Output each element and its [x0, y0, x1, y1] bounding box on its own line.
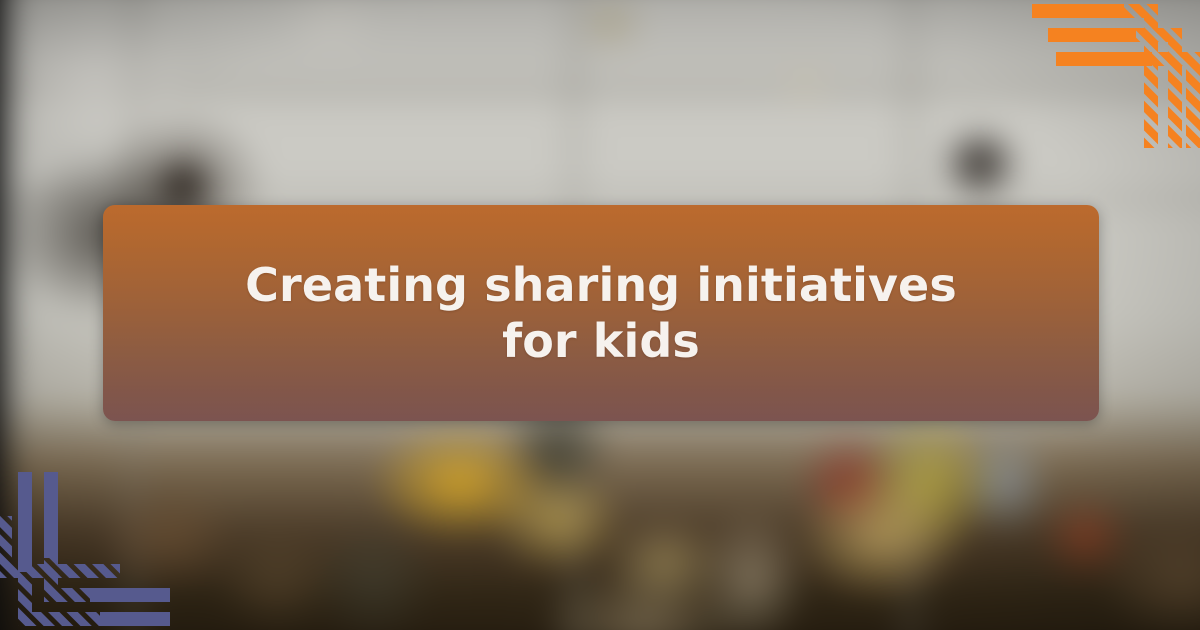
title-banner-inner: Creating sharing initiatives for kids [103, 257, 1099, 369]
page-title: Creating sharing initiatives for kids [143, 257, 1059, 369]
title-banner: Creating sharing initiatives for kids [103, 205, 1099, 421]
poster-canvas: Creating sharing initiatives for kids [0, 0, 1200, 630]
